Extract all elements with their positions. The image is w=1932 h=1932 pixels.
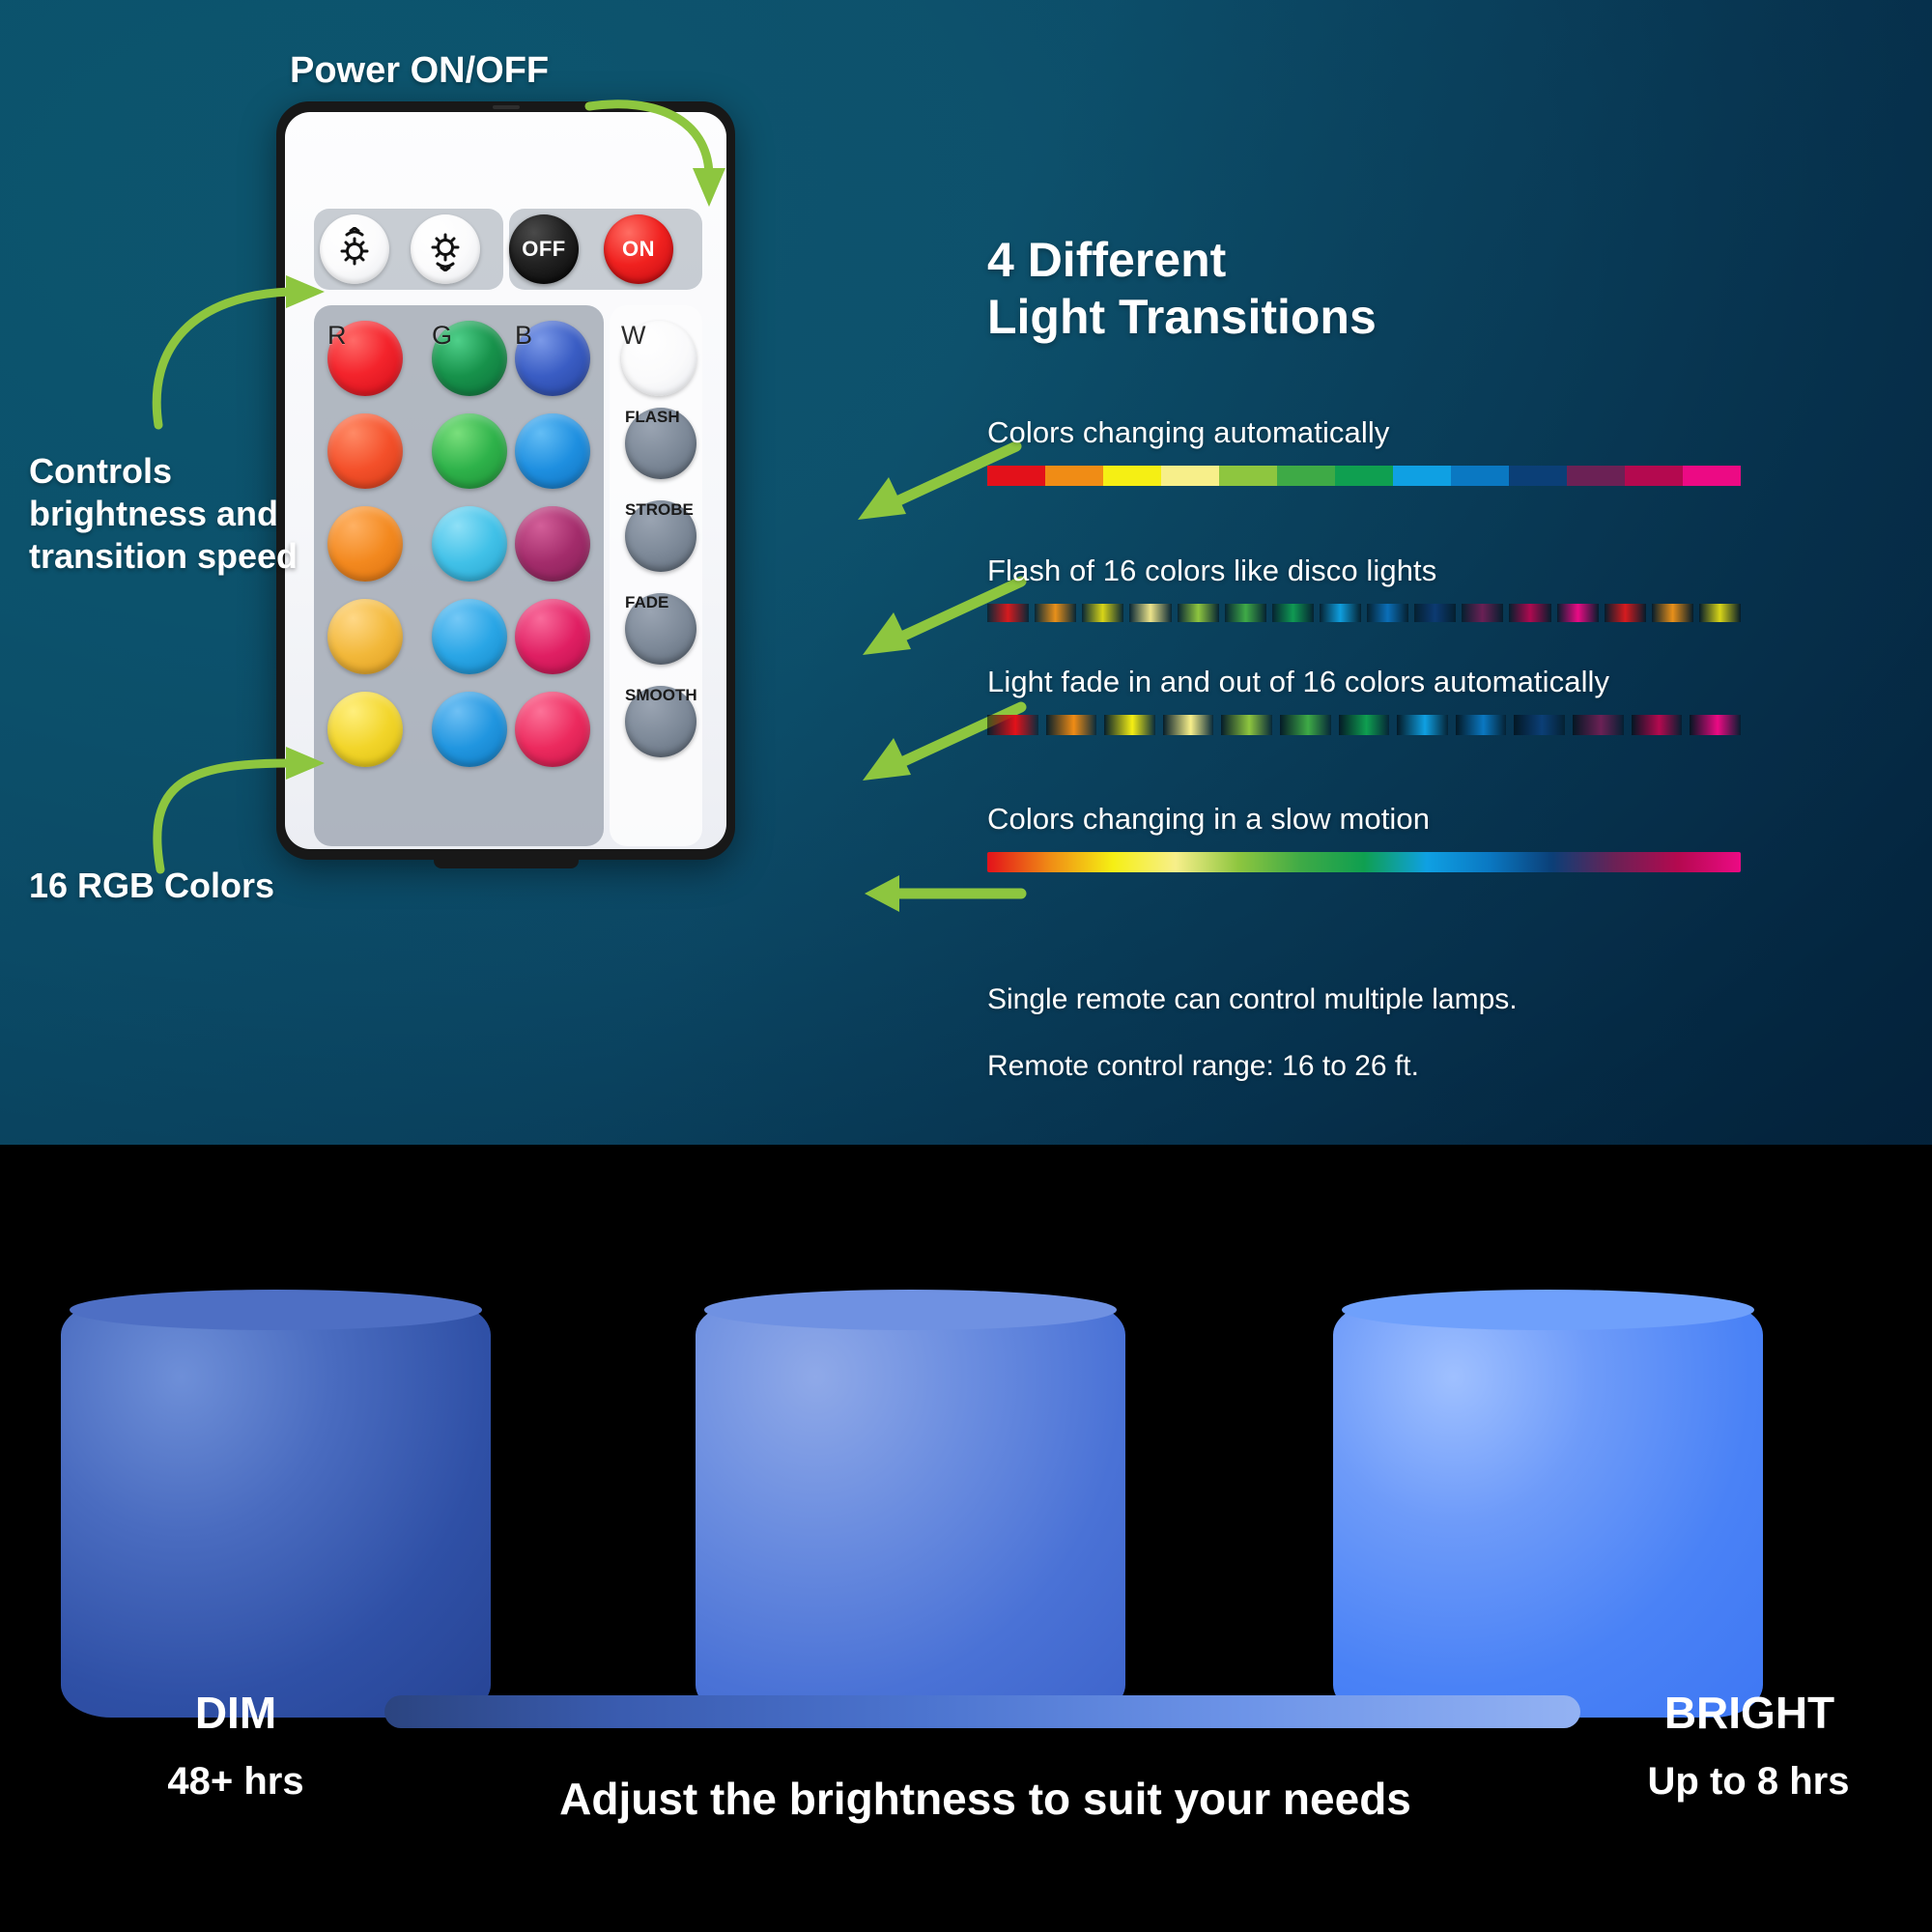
- transition-label-strobe: Flash of 16 colors like disco lights: [987, 554, 1895, 588]
- callout-rgb-colors-label: 16 RGB Colors: [29, 866, 274, 906]
- power-on-label: ON: [604, 214, 673, 284]
- color-button-orange[interactable]: [327, 506, 403, 582]
- color-button-white[interactable]: W: [621, 321, 696, 396]
- color-button-orange-red[interactable]: [327, 413, 403, 489]
- remote-feature-panel: Power ON/OFF Controls brightness and tra…: [0, 0, 1932, 1145]
- headline: 4 Different Light Transitions: [987, 232, 1586, 345]
- transition-label-flash: Colors changing automatically: [987, 415, 1895, 450]
- smooth-button-label: SMOOTH: [625, 686, 697, 704]
- brightness-caption: Adjust the brightness to suit your needs: [386, 1773, 1584, 1825]
- lamp-bright: [1333, 1302, 1763, 1718]
- brightness-up-label: [411, 214, 480, 284]
- brightness-slider[interactable]: [384, 1695, 1580, 1728]
- remote-ir-window: [493, 105, 520, 109]
- bright-hours-label: Up to 8 hrs: [1584, 1760, 1913, 1804]
- color-button-green-primary[interactable]: G: [432, 321, 507, 396]
- color-button-sky-blue[interactable]: [432, 599, 507, 674]
- transition-label-smooth: Colors changing in a slow motion: [987, 802, 1895, 837]
- red-button-label: R: [327, 321, 347, 350]
- brightness-up-button[interactable]: [411, 214, 480, 284]
- lamp-dim-top: [70, 1290, 482, 1330]
- dim-hours-label: 48+ hrs: [100, 1760, 371, 1804]
- callout-controls-label: Controls brightness and transition speed: [29, 450, 319, 578]
- dim-label: DIM: [120, 1687, 352, 1739]
- color-button-red-primary[interactable]: R: [327, 321, 403, 396]
- power-off-label: OFF: [509, 214, 579, 284]
- bright-label: BRIGHT: [1600, 1687, 1899, 1739]
- flash-button-label: FLASH: [625, 408, 680, 426]
- arrow-controls: [145, 232, 328, 435]
- callout-power-label: Power ON/OFF: [290, 50, 549, 92]
- transition-colorbar-flash: [987, 466, 1741, 486]
- color-button-cyan-light[interactable]: [432, 506, 507, 582]
- transition-colorbar-smooth: [987, 852, 1741, 872]
- brightness-down-label: [320, 214, 389, 284]
- mode-button-fade[interactable]: FADE: [625, 593, 696, 665]
- transition-label-fade: Light fade in and out of 16 colors autom…: [987, 665, 1895, 699]
- white-button-label: W: [621, 321, 645, 350]
- transition-colorbar-strobe: [987, 604, 1741, 622]
- remote-bottom-notch: [434, 857, 579, 868]
- headline-line1: 4 Different: [987, 232, 1586, 289]
- color-button-magenta-dark[interactable]: [515, 506, 590, 582]
- transition-row-fade: Light fade in and out of 16 colors autom…: [987, 665, 1895, 735]
- mode-button-strobe[interactable]: STROBE: [625, 500, 696, 572]
- color-button-green-mid[interactable]: [432, 413, 507, 489]
- color-button-amber[interactable]: [327, 599, 403, 674]
- fade-button-label: FADE: [625, 593, 668, 611]
- infographic-page: Power ON/OFF Controls brightness and tra…: [0, 0, 1932, 1932]
- power-on-button[interactable]: ON: [604, 214, 673, 284]
- mode-button-smooth[interactable]: SMOOTH: [625, 686, 696, 757]
- transition-row-strobe: Flash of 16 colors like disco lights: [987, 554, 1895, 622]
- brightness-down-button[interactable]: [320, 214, 389, 284]
- mode-button-flash[interactable]: FLASH: [625, 408, 696, 479]
- transition-row-flash: Colors changing automatically: [987, 415, 1895, 486]
- color-button-blue-light[interactable]: [432, 692, 507, 767]
- arrow-rgb-colors: [145, 589, 328, 879]
- transition-row-smooth: Colors changing in a slow motion: [987, 802, 1895, 872]
- power-off-button[interactable]: OFF: [509, 214, 579, 284]
- lamp-dim: [61, 1302, 491, 1718]
- green-button-label: G: [432, 321, 452, 350]
- headline-line2: Light Transitions: [987, 289, 1586, 346]
- color-button-pink[interactable]: [515, 599, 590, 674]
- transitions-content: 4 Different Light Transitions Colors cha…: [987, 0, 1915, 1145]
- remote-face: OFF ON R G B W: [285, 112, 726, 849]
- lamp-medium: [696, 1302, 1125, 1718]
- lamp-bright-top: [1342, 1290, 1754, 1330]
- transition-colorbar-fade: [987, 715, 1741, 735]
- strobe-button-label: STROBE: [625, 500, 694, 519]
- color-button-blue-mid[interactable]: [515, 413, 590, 489]
- note-multiple-lamps: Single remote can control multiple lamps…: [987, 983, 1518, 1016]
- lamp-medium-top: [704, 1290, 1117, 1330]
- note-remote-range: Remote control range: 16 to 26 ft.: [987, 1050, 1419, 1083]
- color-button-yellow[interactable]: [327, 692, 403, 767]
- color-button-blue-primary[interactable]: B: [515, 321, 590, 396]
- color-button-rose[interactable]: [515, 692, 590, 767]
- arrow-power: [580, 93, 753, 218]
- blue-button-label: B: [515, 321, 532, 350]
